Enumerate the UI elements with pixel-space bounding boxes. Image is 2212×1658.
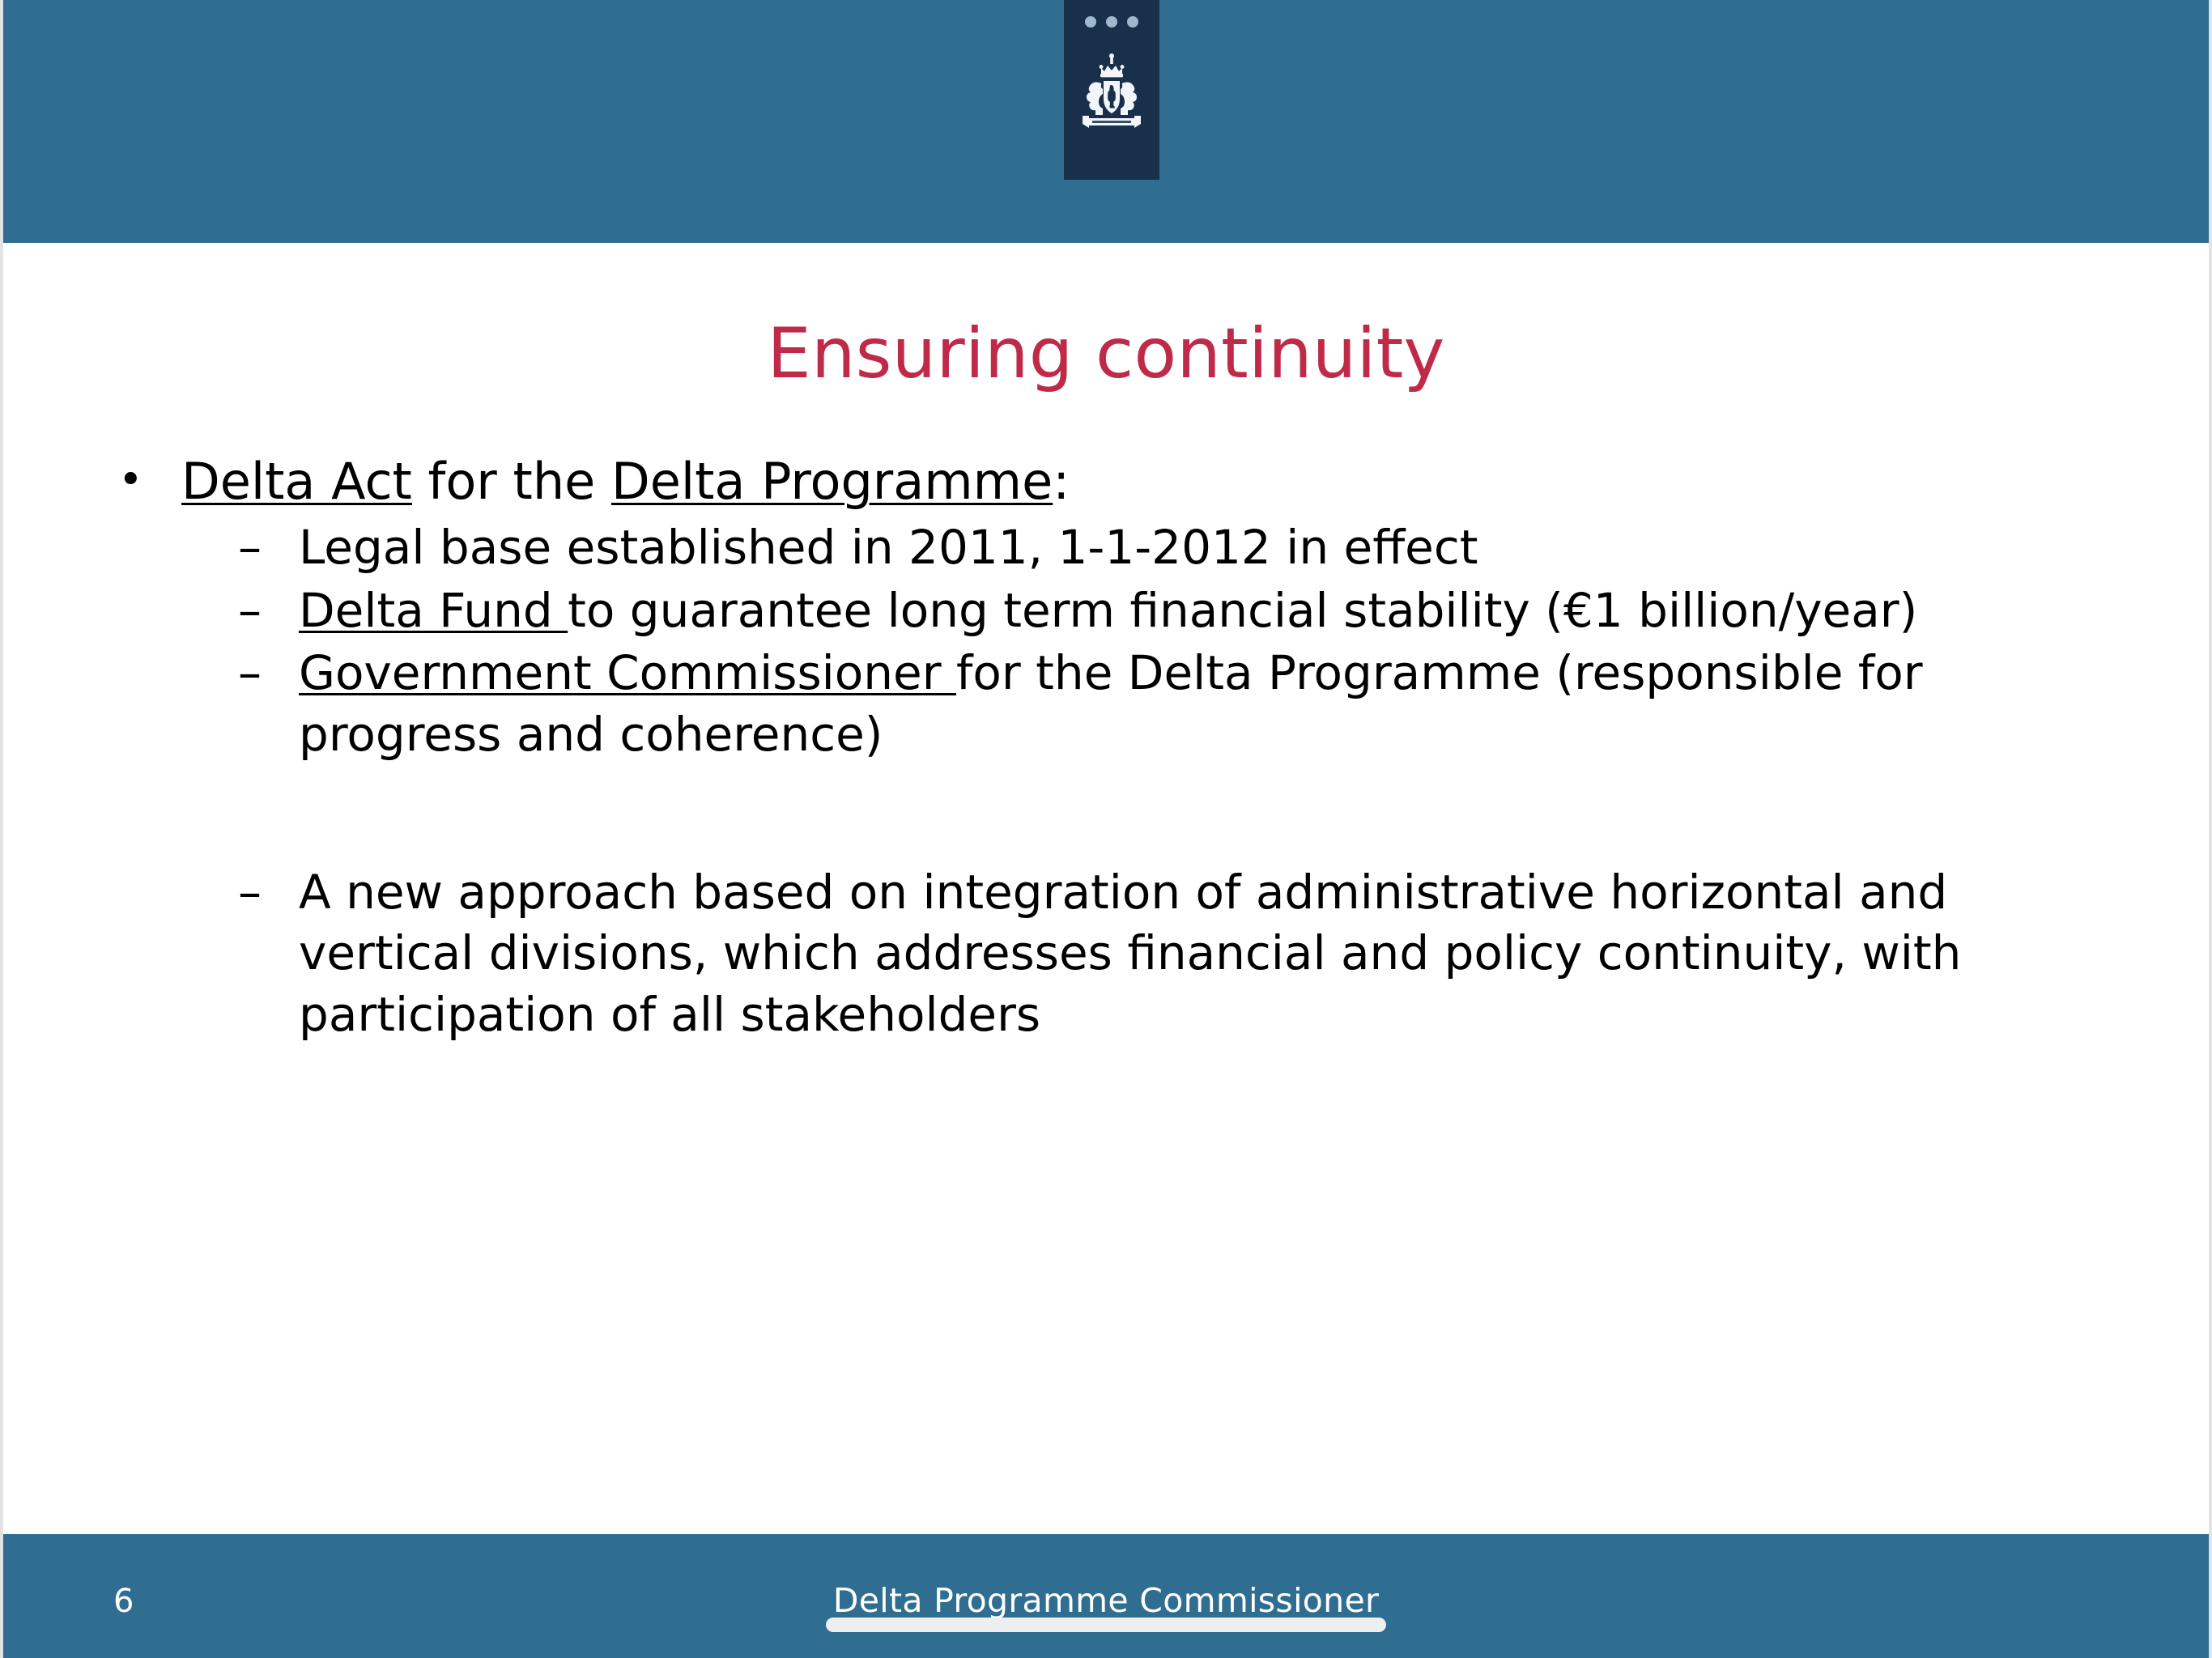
slide-footer-band: 6 Delta Programme Commissioner <box>3 1534 2209 1658</box>
bullet-spacer <box>100 767 2125 862</box>
bullet-text: Delta Act for the Delta Programme: <box>181 453 2125 509</box>
dash-marker-icon: – <box>238 643 299 703</box>
sub-bullet-text: A new approach based on integration of a… <box>299 862 2104 1045</box>
dash-marker-icon: – <box>238 862 299 922</box>
slide-header-band <box>3 0 2209 243</box>
page-title: Ensuring continuity <box>3 317 2209 390</box>
home-indicator-bar[interactable] <box>826 1618 1386 1632</box>
bullet-text-segment: Delta Programme <box>611 452 1053 511</box>
sub-bullet-text-segment: Delta Fund <box>299 583 568 638</box>
dash-marker-icon: – <box>238 517 299 577</box>
slide-body: • Delta Act for the Delta Programme: – L… <box>100 453 2125 1047</box>
sub-bullet-text-segment: Government Commissioner <box>299 645 956 700</box>
sub-bullet-text: Legal base established in 2011, 1-1-2012… <box>299 517 2104 578</box>
sub-bullet-text-segment: A new approach based on integration of a… <box>299 865 1961 1042</box>
government-logo-ribbon <box>1064 0 1159 180</box>
sub-bullet-item-delta-fund: – Delta Fund to guarantee long term fina… <box>238 580 2125 641</box>
bullet-text-segment: Delta Act <box>181 452 412 511</box>
sub-bullet-text: Government Commissioner for the Delta Pr… <box>299 643 2104 765</box>
sub-bullet-item-government-commissioner: – Government Commissioner for the Delta … <box>238 643 2125 765</box>
ribbon-dots-icon <box>1085 16 1138 28</box>
sub-bullet-item-legal-base: – Legal base established in 2011, 1-1-20… <box>238 517 2125 578</box>
sub-bullet-text: Delta Fund to guarantee long term financ… <box>299 580 2104 641</box>
sub-bullet-text-segment: to guarantee long term financial stabili… <box>568 583 1917 638</box>
dash-marker-icon: – <box>238 580 299 640</box>
coat-of-arms-icon <box>1074 52 1149 141</box>
bullet-item-delta-act: • Delta Act for the Delta Programme: <box>100 453 2125 509</box>
bullet-marker-icon: • <box>100 453 181 508</box>
bullet-text-segment: for the <box>412 452 611 511</box>
footer-title: Delta Programme Commissioner <box>3 1581 2209 1620</box>
presentation-slide: Ensuring continuity • Delta Act for the … <box>0 0 2212 1658</box>
sub-bullet-text-segment: Legal base established in 2011, 1-1-2012… <box>299 520 1478 575</box>
bullet-text-segment: : <box>1053 452 1070 511</box>
sub-bullet-item-new-approach: – A new approach based on integration of… <box>238 862 2125 1045</box>
